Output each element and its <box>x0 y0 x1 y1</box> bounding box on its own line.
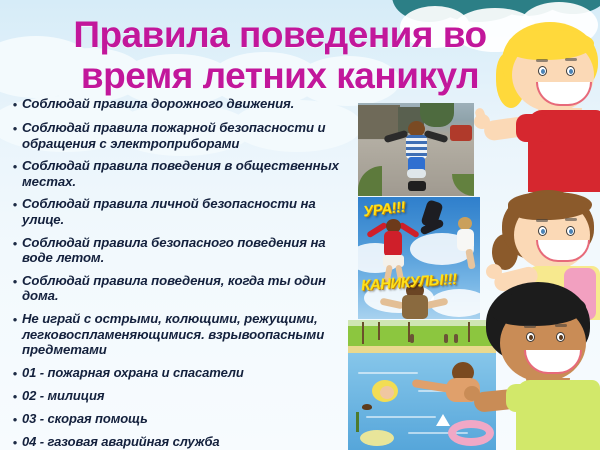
presentation-slide: Правила поведения во время летних канику… <box>0 0 600 450</box>
boy-striped-shirt <box>406 135 427 159</box>
second-girl-leg <box>465 249 475 270</box>
emergency-number-text: 04 - газовая аварийная служба <box>22 434 356 450</box>
eyebrow-right <box>555 324 567 327</box>
eyebrow-left <box>536 219 548 222</box>
eye-left <box>526 332 535 342</box>
list-item: • Соблюдай правила поведения, когда ты о… <box>8 273 356 304</box>
green-bank <box>348 326 496 348</box>
bullet-marker-icon: • <box>8 96 22 113</box>
lily-pad <box>360 430 394 446</box>
hand <box>486 264 502 279</box>
bullet-marker-icon: • <box>8 120 22 137</box>
title-line-1: Правила поведения во <box>40 14 520 55</box>
eye-right <box>566 66 575 76</box>
list-item-text: Не играй с острыми, колющими, режущими, … <box>22 311 356 358</box>
eyebrow-left <box>536 59 548 62</box>
list-item: • Соблюдай правила пожарной безопасности… <box>8 120 356 151</box>
distant-person <box>454 334 458 343</box>
emergency-number-text: 01 - пожарная охрана и спасатели <box>22 365 356 381</box>
tree-shape <box>420 103 454 127</box>
eye-left <box>538 226 547 236</box>
water-ripple <box>366 416 436 418</box>
jumping-kids-photo: УРА!!! КАНИКУЛЫ!!! <box>358 197 480 319</box>
bullet-marker-icon: • <box>8 411 22 428</box>
list-item: • 02 - милиция <box>8 388 356 405</box>
bullet-marker-icon: • <box>8 158 22 175</box>
rollerblading-boy-photo <box>358 103 474 196</box>
eye-right <box>566 226 575 236</box>
list-item: • Соблюдай правила личной безопасности н… <box>8 196 356 227</box>
shirt-sleeve <box>516 114 550 142</box>
eyebrow-right <box>565 218 577 221</box>
rules-bullet-list: • Соблюдай правила дорожного движения. •… <box>8 96 356 450</box>
shirt-sleeve <box>506 384 540 412</box>
bullet-marker-icon: • <box>8 434 22 450</box>
dark-haired-boy-character <box>478 282 600 450</box>
list-item: • Соблюдай правила поведения в обществен… <box>8 158 356 189</box>
emergency-number-text: 03 - скорая помощь <box>22 411 356 427</box>
bullet-marker-icon: • <box>8 365 22 382</box>
bullet-marker-icon: • <box>8 235 22 252</box>
list-item-text: Соблюдай правила пожарной безопасности и… <box>22 120 356 151</box>
bullet-marker-icon: • <box>8 273 22 290</box>
reed-plant <box>356 412 359 432</box>
list-item: • Не играй с острыми, колющими, режущими… <box>8 311 356 358</box>
eyebrow-left <box>524 325 536 328</box>
title-line-2: время летних каникул <box>40 55 520 96</box>
eye-left <box>538 66 547 76</box>
emergency-number-text: 02 - милиция <box>22 388 356 404</box>
list-item-text: Соблюдай правила поведения в общественны… <box>22 158 356 189</box>
tree-trunk <box>468 322 470 342</box>
swimming-girl-face <box>380 386 394 399</box>
blonde-girl-character <box>486 22 600 192</box>
eye-right <box>556 332 565 342</box>
slide-title: Правила поведения во время летних канику… <box>40 14 520 96</box>
list-item-text: Соблюдай правила безопасного поведения н… <box>22 235 356 266</box>
bullet-marker-icon: • <box>8 388 22 405</box>
photo-caption-ura: УРА!!! <box>362 199 406 221</box>
list-item: • Соблюдай правила безопасного поведения… <box>8 235 356 266</box>
list-item: • Соблюдай правила дорожного движения. <box>8 96 356 113</box>
list-item-text: Соблюдай правила дорожного движения. <box>22 96 356 112</box>
girl-red-jacket <box>384 231 402 257</box>
bottom-boy-body <box>402 295 428 319</box>
list-item: • 03 - скорая помощь <box>8 411 356 428</box>
duck-shape <box>362 404 372 410</box>
distant-person <box>410 334 414 343</box>
list-item-text: Соблюдай правила поведения, когда ты оди… <box>22 273 356 304</box>
list-item: • 01 - пожарная охрана и спасатели <box>8 365 356 382</box>
red-car <box>450 125 472 141</box>
rollerblades <box>408 181 426 191</box>
bullet-marker-icon: • <box>8 196 22 213</box>
list-item: • 04 - газовая аварийная служба <box>8 434 356 450</box>
toy-sailboat <box>436 414 450 426</box>
hand <box>464 386 480 401</box>
eyebrow-right <box>565 58 577 61</box>
tree-trunk <box>378 322 380 340</box>
swimming-river-illustration <box>348 320 496 450</box>
tree-trunk <box>362 322 364 344</box>
knee-pads <box>407 169 426 178</box>
distant-person <box>444 334 448 343</box>
bullet-marker-icon: • <box>8 311 22 328</box>
water-ripple <box>358 372 418 374</box>
list-item-text: Соблюдай правила личной безопасности на … <box>22 196 356 227</box>
second-girl-shirt <box>457 229 474 251</box>
